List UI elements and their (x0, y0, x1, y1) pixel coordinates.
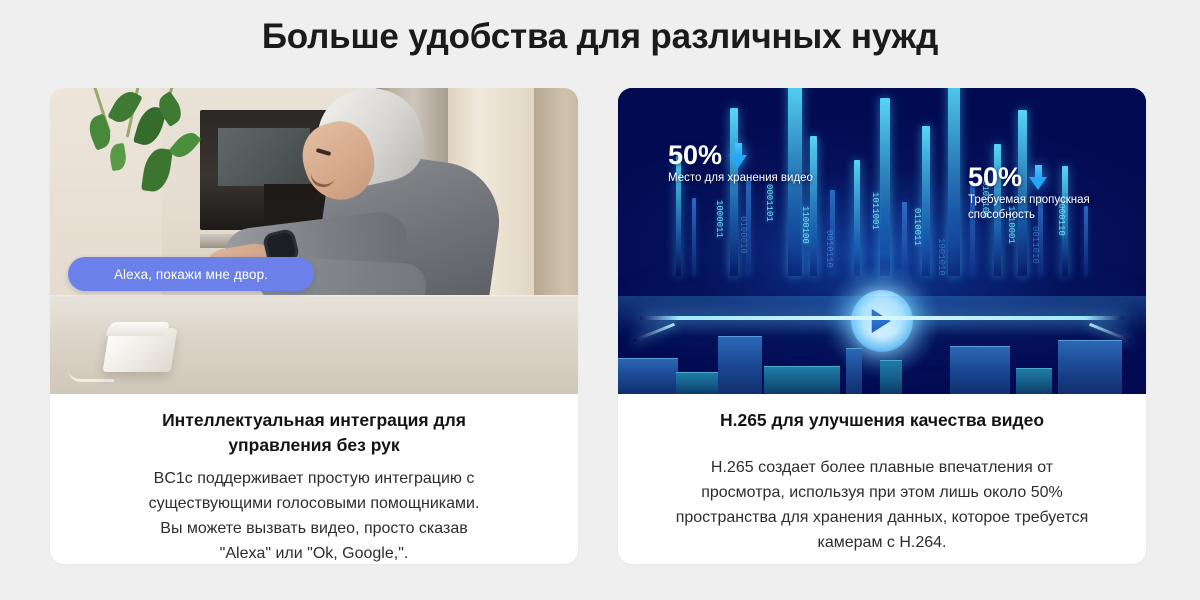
card-body-left: Интеллектуальная интеграция для управлен… (50, 394, 578, 564)
binary-column: 0010110 (824, 230, 834, 268)
card-media-photo: Alexa, покажи мне двор. (50, 88, 578, 394)
card-h265-video[interactable]: 1000011 0100010 0001101 1100100 0010110 … (618, 88, 1146, 564)
kitchen-photo: Alexa, покажи мне двор. (50, 88, 578, 394)
stat-storage-caption: Место для хранения видео (668, 171, 813, 186)
card-heading-left: Интеллектуальная интеграция для управлен… (72, 408, 556, 458)
card-heading-right: H.265 для улучшения качества видео (640, 408, 1124, 433)
binary-column: 0001101 (764, 184, 774, 222)
card-text-left: BC1c поддерживает простую интеграцию с с… (72, 466, 556, 564)
voice-command-text: Alexa, покажи мне двор. (114, 267, 268, 282)
arrow-down-icon (729, 143, 748, 168)
card-body-right: H.265 для улучшения качества видео H.265… (618, 394, 1146, 564)
stat-bandwidth: 50% Требуемая пропускная способность (968, 162, 1090, 223)
data-city-graphic: 1000011 0100010 0001101 1100100 0010110 … (618, 88, 1146, 394)
stat-bandwidth-value: 50% (968, 162, 1022, 192)
page-title: Больше удобства для различных нужд (0, 14, 1200, 60)
stat-bandwidth-row: 50% (968, 162, 1090, 192)
binary-column: 0011010 (1030, 226, 1040, 264)
binary-column: 1001010 (936, 238, 946, 276)
binary-column: 0100010 (738, 216, 748, 254)
card-text-right: H.265 создает более плавные впечатления … (640, 455, 1124, 555)
stat-storage-row: 50% (668, 140, 813, 170)
smart-speaker-top (105, 322, 171, 336)
stat-storage-value: 50% (668, 140, 722, 170)
stat-bandwidth-caption: Требуемая пропускная способность (968, 193, 1090, 223)
voice-command-bubble: Alexa, покажи мне двор. (68, 257, 314, 291)
stat-storage: 50% Место для хранения видео (668, 140, 813, 186)
binary-column: 1000011 (714, 200, 724, 238)
feature-cards-row: Alexa, покажи мне двор. Интеллектуальная… (50, 88, 1146, 564)
card-media-graphic: 1000011 0100010 0001101 1100100 0010110 … (618, 88, 1146, 394)
binary-column: 1011001 (870, 192, 880, 230)
binary-column: 1100100 (800, 206, 810, 244)
platform-line (640, 316, 1124, 320)
card-smart-integration[interactable]: Alexa, покажи мне двор. Интеллектуальная… (50, 88, 578, 564)
arrow-down-icon (1029, 165, 1048, 190)
hanging-plant (80, 88, 210, 228)
binary-column: 0110011 (912, 208, 922, 246)
